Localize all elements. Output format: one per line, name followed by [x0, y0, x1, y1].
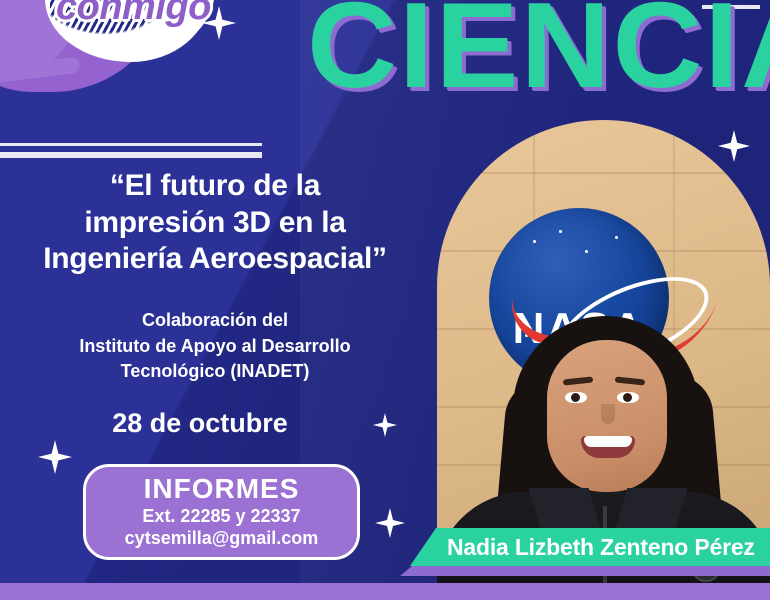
speaker-banner: Nadia Lizbeth Zenteno Pérez — [410, 528, 770, 566]
bottom-accent-bar — [0, 583, 770, 600]
speaker-banner-underbar — [400, 566, 770, 576]
logo-line-bottom: conmigo — [56, 0, 211, 29]
talk-title-line-1: “El futuro de la — [0, 168, 430, 205]
divider-rule-thin — [0, 143, 262, 146]
talk-title-line-3: Ingeniería Aeroespacial” — [0, 241, 430, 278]
talk-title: “El futuro de la impresión 3D en la Inge… — [0, 168, 430, 278]
collaboration-line-2: Instituto de Apoyo al Desarrollo — [0, 334, 430, 360]
talk-title-line-2: impresión 3D en la — [0, 205, 430, 242]
informes-email[interactable]: cytsemilla@gmail.com — [125, 527, 319, 550]
poster-canvas: CIENCIA conmigo CIENCIA NASA — [0, 0, 770, 600]
speaker-name: Nadia Lizbeth Zenteno Pérez — [447, 534, 755, 561]
informes-title: INFORMES — [144, 474, 300, 505]
collaboration-block: Colaboración del Instituto de Apoyo al D… — [0, 308, 430, 385]
event-date: 28 de octubre — [0, 408, 400, 439]
collaboration-line-1: Colaboración del — [0, 308, 430, 334]
nose — [601, 404, 615, 424]
divider-rule-thick — [0, 152, 262, 158]
collaboration-line-3: Tecnológico (INADET) — [0, 359, 430, 385]
informes-extension: Ext. 22285 y 22337 — [142, 505, 300, 528]
page-title: CIENCIA — [307, 0, 770, 106]
mouth — [581, 436, 635, 458]
informes-card: INFORMES Ext. 22285 y 22337 cytsemilla@g… — [83, 464, 360, 560]
